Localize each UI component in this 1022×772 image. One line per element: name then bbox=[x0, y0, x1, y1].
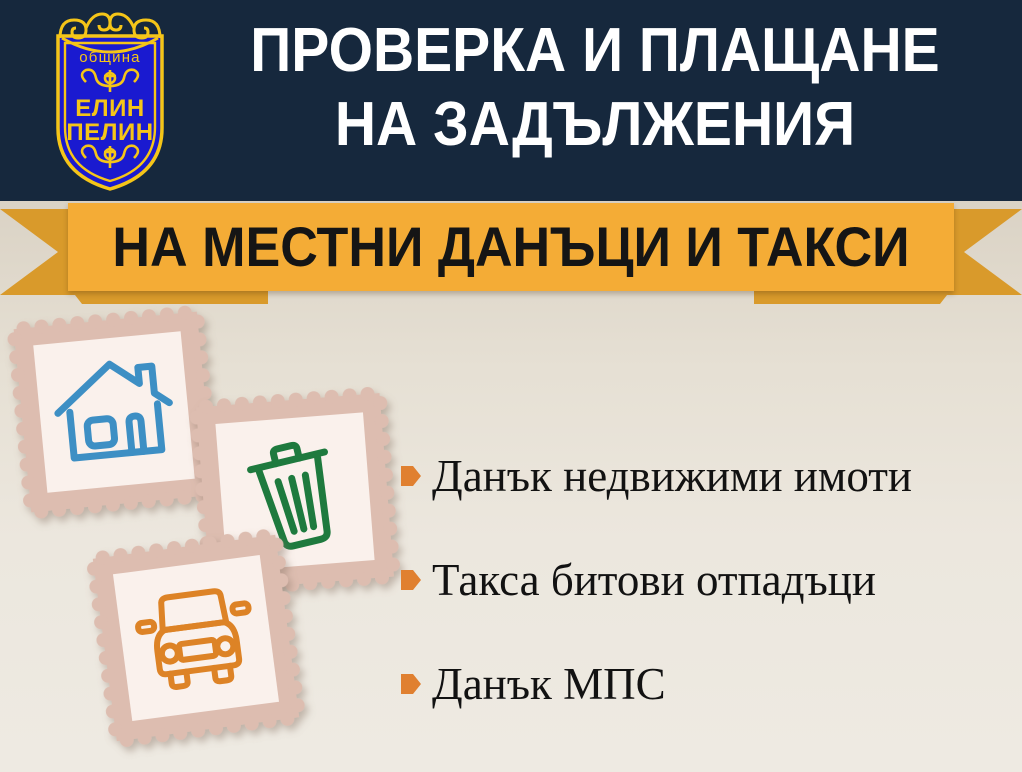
list-item-label: Такса битови отпадъци bbox=[432, 555, 876, 605]
crest-line-2: ПЕЛИН bbox=[66, 119, 153, 146]
crest-line-1: ЕЛИН bbox=[75, 95, 144, 122]
arrow-bullet-icon bbox=[400, 671, 422, 697]
arrow-bullet-icon bbox=[400, 567, 422, 593]
list-item-label: Данък МПС bbox=[432, 659, 666, 709]
arrow-bullet-icon bbox=[400, 463, 422, 489]
stamp-card-vehicle bbox=[84, 526, 308, 750]
ribbon-label: НА МЕСТНИ ДАНЪЦИ И ТАКСИ bbox=[99, 203, 923, 291]
crest-line-small: община bbox=[79, 49, 140, 66]
list-item-label: Данък недвижими имоти bbox=[432, 451, 912, 501]
subtitle-ribbon: НА МЕСТНИ ДАНЪЦИ И ТАКСИ bbox=[0, 200, 1022, 310]
page-title: ПРОВЕРКА И ПЛАЩАНЕ НА ЗАДЪЛЖЕНИЯ bbox=[218, 14, 972, 162]
list-item[interactable]: Данък недвижими имоти bbox=[400, 424, 1010, 528]
tax-type-list: Данък недвижими имоти Такса битови отпад… bbox=[400, 424, 1010, 736]
list-item[interactable]: Такса битови отпадъци bbox=[400, 528, 1010, 632]
list-item[interactable]: Данък МПС bbox=[400, 632, 1010, 736]
ribbon-banner: НА МЕСТНИ ДАНЪЦИ И ТАКСИ bbox=[68, 203, 954, 291]
municipality-crest: община ЕЛИН ПЕЛИН bbox=[36, 8, 184, 193]
header-bar: община ЕЛИН ПЕЛИН ПРОВЕРКА И ПЛАЩАНЕ НА … bbox=[0, 0, 1022, 201]
poster-canvas: община ЕЛИН ПЕЛИН ПРОВЕРКА И ПЛАЩАНЕ НА … bbox=[0, 0, 1022, 772]
